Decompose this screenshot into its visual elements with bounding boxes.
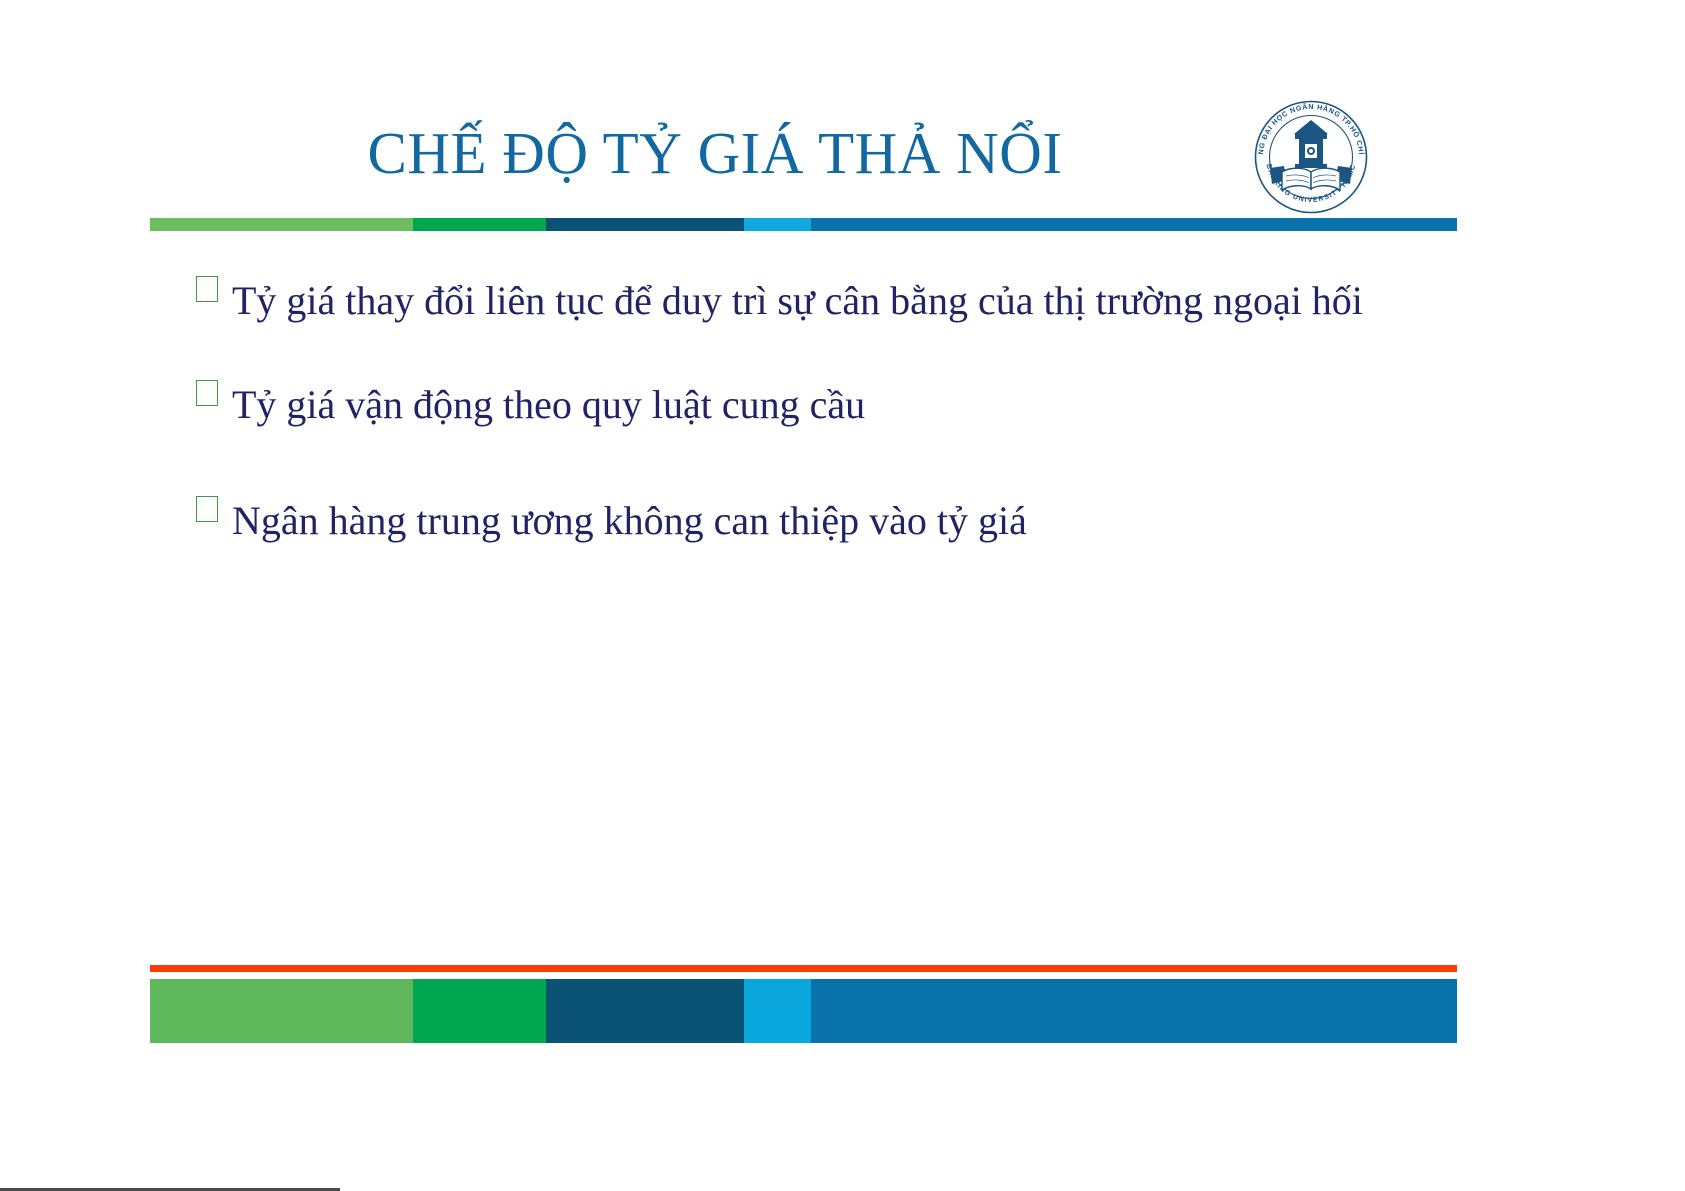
- slide-body: Tỷ giá thay đổi liên tục để duy trì sự c…: [196, 262, 1396, 560]
- bullet-text: Ngân hàng trung ương không can thiệp vào…: [232, 482, 1396, 560]
- header-bar-segment-3: [546, 218, 744, 231]
- bullet-text: Tỷ giá thay đổi liên tục để duy trì sự c…: [232, 262, 1396, 340]
- bullet-item: Ngân hàng trung ương không can thiệp vào…: [196, 482, 1396, 560]
- university-logo: TRƯỜNG ĐẠI HỌC NGÂN HÀNG TP.HỒ CHÍ MINH …: [1250, 96, 1372, 218]
- square-bullet-icon: [196, 276, 218, 302]
- header-bar-segment-4: [744, 218, 811, 231]
- footer-bar-segment-4: [744, 979, 811, 1043]
- bullet-item: Tỷ giá thay đổi liên tục để duy trì sự c…: [196, 262, 1396, 340]
- footer-bar-segment-5: [811, 979, 1457, 1043]
- square-bullet-icon: [196, 380, 218, 406]
- slide-canvas: CHẾ ĐỘ TỶ GIÁ THẢ NỔI TRƯỜNG ĐẠI HỌC NGÂ…: [0, 0, 1685, 1191]
- page-title: CHẾ ĐỘ TỶ GIÁ THẢ NỔI: [150, 120, 1280, 186]
- footer-color-bar: [150, 979, 1457, 1043]
- header-bar-segment-2: [413, 218, 546, 231]
- bullet-item: Tỷ giá vận động theo quy luật cung cầu: [196, 366, 1396, 444]
- bullet-text: Tỷ giá vận động theo quy luật cung cầu: [232, 366, 1396, 444]
- footer-bar-segment-1: [150, 979, 413, 1043]
- header-color-bar: [150, 218, 1457, 231]
- slide-header: CHẾ ĐỘ TỶ GIÁ THẢ NỔI TRƯỜNG ĐẠI HỌC NGÂ…: [0, 0, 1685, 238]
- header-bar-segment-5: [811, 218, 1457, 231]
- header-bar-segment-1: [150, 218, 413, 231]
- square-bullet-icon: [196, 496, 218, 522]
- footer-bar-segment-3: [546, 979, 744, 1043]
- footer-red-rule: [150, 965, 1457, 972]
- footer-bar-segment-2: [413, 979, 546, 1043]
